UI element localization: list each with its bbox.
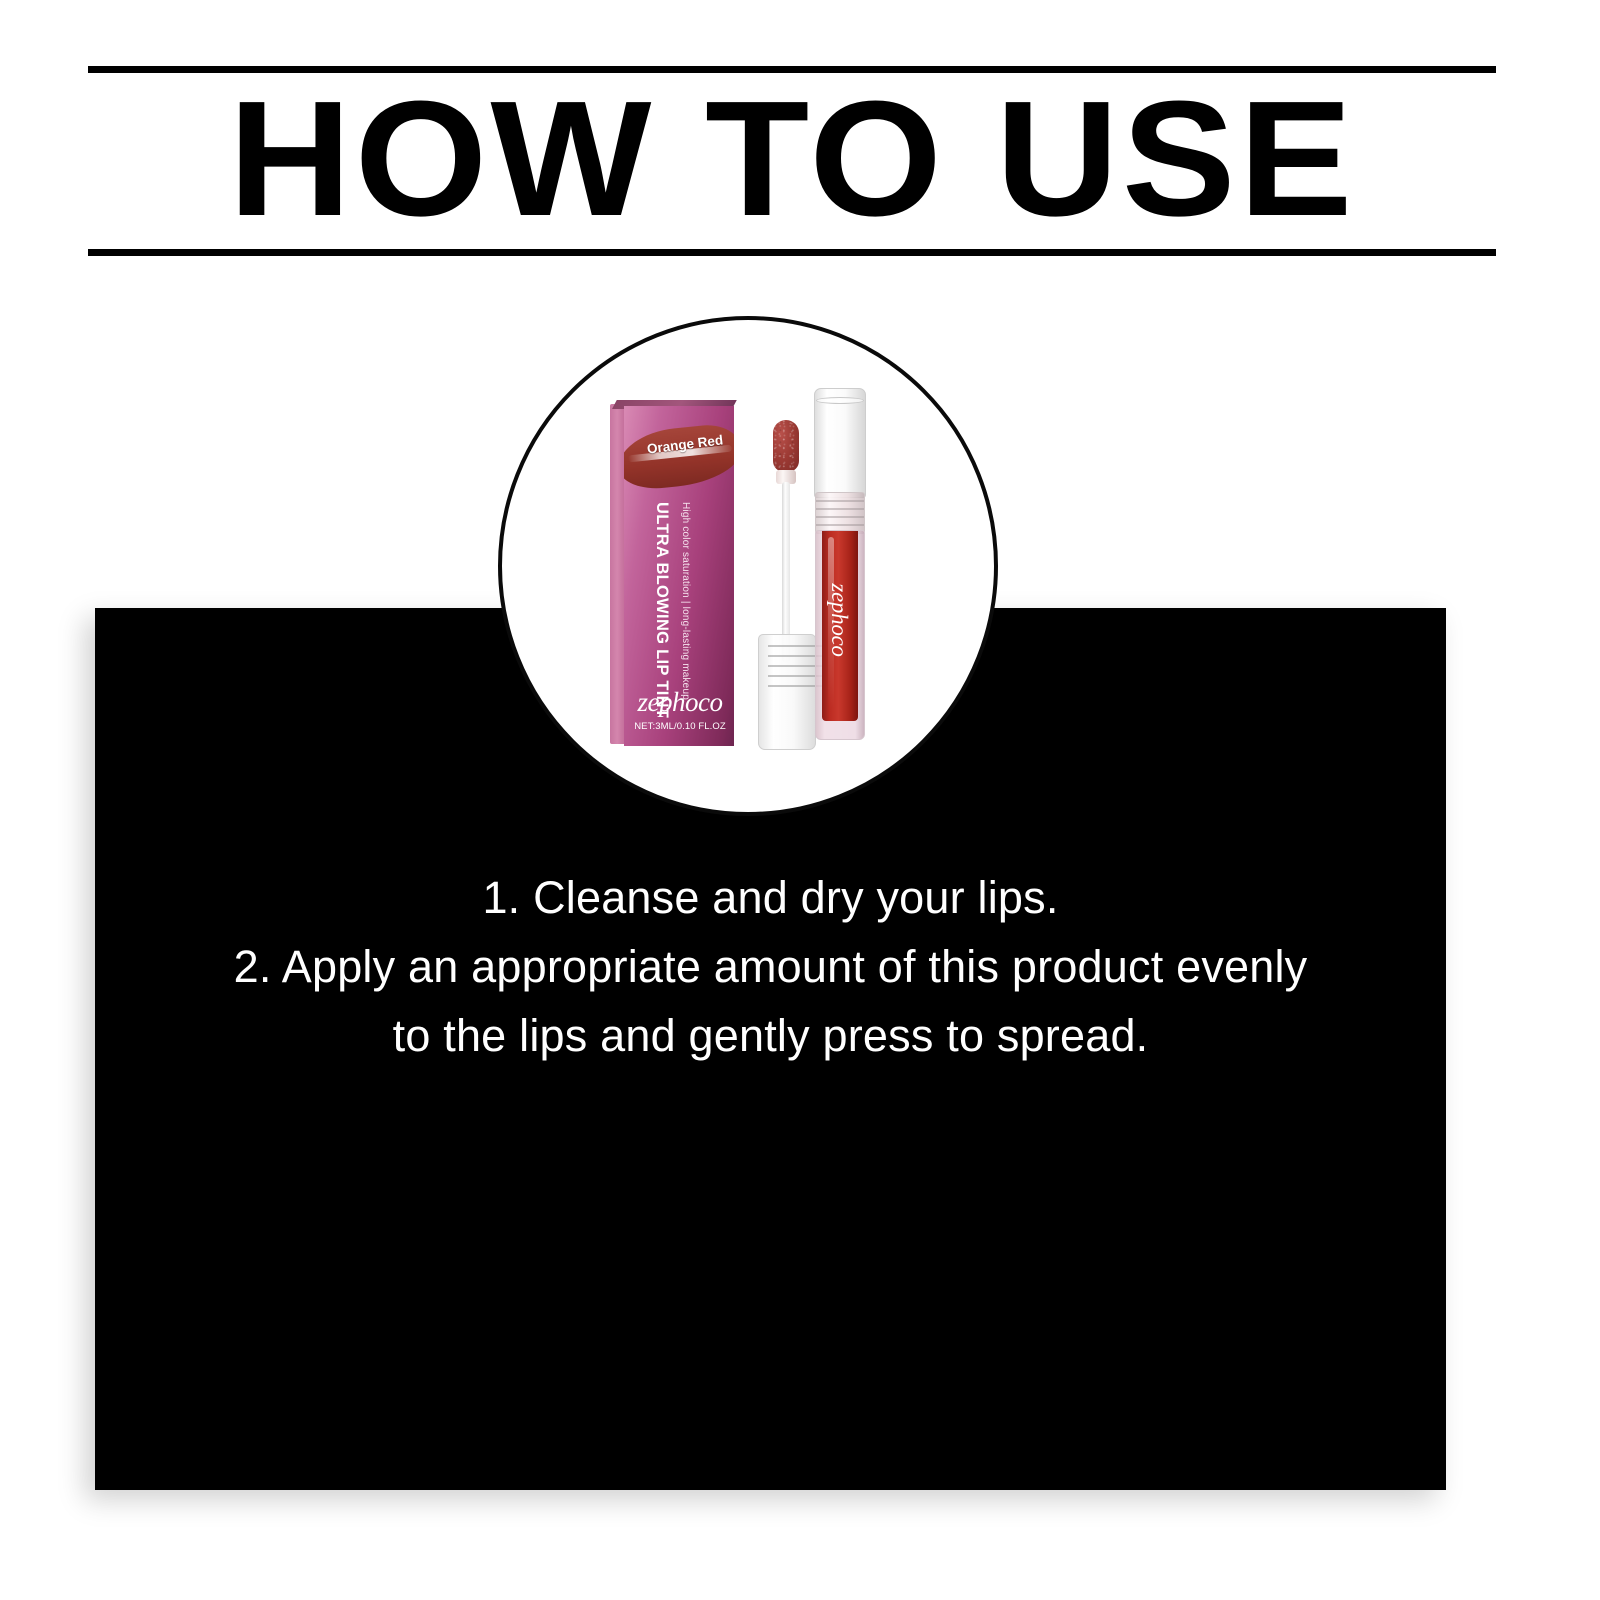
tube-neck-rib <box>816 524 864 526</box>
tube-cap <box>814 388 866 498</box>
doe-foot-tip-texture <box>773 420 799 472</box>
box-net-weight: NET:3ML/0.10 FL.OZ <box>628 721 732 732</box>
box-tagline: High color saturation | long-lasting mak… <box>680 502 691 702</box>
title-rule-bottom <box>88 249 1496 256</box>
box-brand-logo: zephoco <box>628 687 732 718</box>
tube-brand-logo: zephoco <box>826 556 852 684</box>
page-title: HOW TO USE <box>60 68 1524 249</box>
lip-tint-tube: zephoco <box>802 388 876 758</box>
instruction-step-1: 1. Cleanse and dry your lips. <box>155 863 1386 932</box>
tube-neck-rib <box>816 516 864 518</box>
tube-neck-rib <box>816 500 864 502</box>
tube-body: zephoco <box>815 530 865 740</box>
tube-neck-rib <box>816 508 864 510</box>
instruction-step-2: 2. Apply an appropriate amount of this p… <box>155 932 1386 1001</box>
instruction-step-2-cont: to the lips and gently press to spread. <box>155 1001 1386 1070</box>
box-front-panel: Orange Red ULTRA BLOWING LIP TINT High c… <box>624 406 734 746</box>
instructions-text: 1. Cleanse and dry your lips. 2. Apply a… <box>155 863 1386 1070</box>
infographic-page: HOW TO USE 1. Cleanse and dry your lips.… <box>0 0 1600 1600</box>
tube-threaded-neck <box>815 492 865 534</box>
product-image-circle: Orange Red ULTRA BLOWING LIP TINT High c… <box>498 316 998 816</box>
box-product-name: ULTRA BLOWING LIP TINT <box>652 502 671 692</box>
header: HOW TO USE <box>88 66 1496 256</box>
product-box: Orange Red ULTRA BLOWING LIP TINT High c… <box>610 398 735 746</box>
tube-cap-rim <box>816 397 864 404</box>
